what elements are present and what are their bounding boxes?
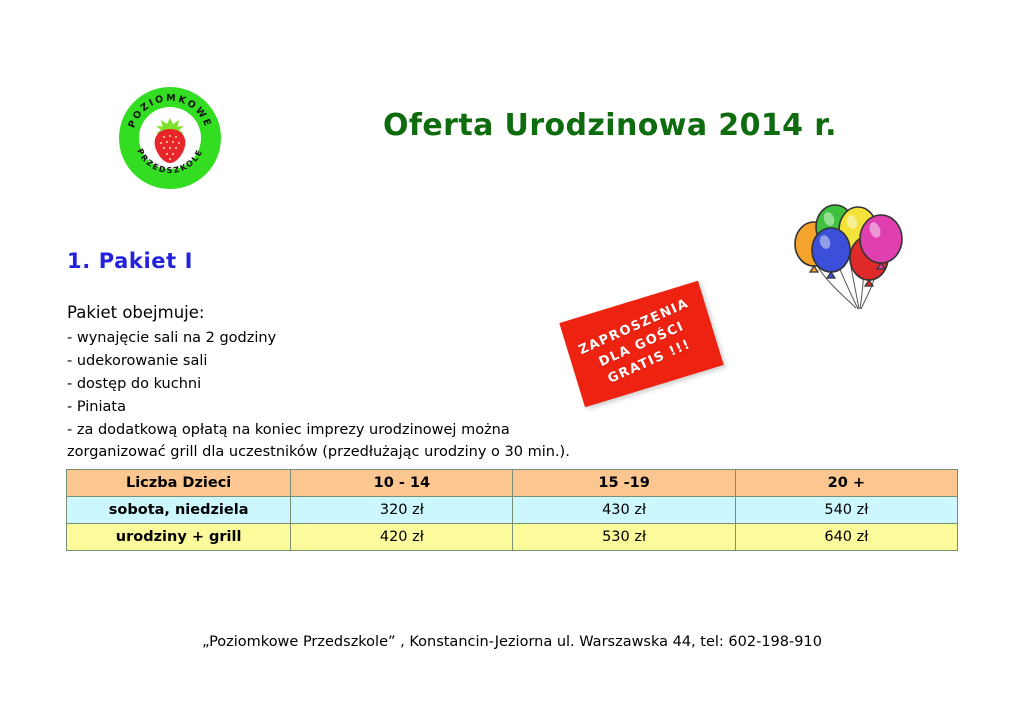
page-title: Oferta Urodzinowa 2014 r. (300, 108, 920, 143)
balloon-magenta (860, 215, 902, 263)
package-bullet-5: - za dodatkową opłatą na koniec imprezy … (67, 419, 587, 463)
table-header-cell-1: 10 - 14 (291, 470, 513, 497)
table-header-cell-3: 20 + (735, 470, 957, 497)
package-intro-label: Pakiet obejmuje: (67, 300, 587, 325)
school-logo: POZIOMKOWE PRZEDSZKOLE (117, 85, 223, 191)
balloons-icon (786, 192, 914, 314)
price-table: Liczba Dzieci 10 - 14 15 -19 20 + sobota… (66, 469, 958, 551)
package-details: Pakiet obejmuje: - wynajęcie sali na 2 g… (67, 300, 587, 463)
package-bullet-2: - udekorowanie sali (67, 350, 587, 373)
table-cell-r1c3: 640 zł (735, 524, 957, 551)
table-header-row: Liczba Dzieci 10 - 14 15 -19 20 + (67, 470, 958, 497)
table-cell-r0c1: 320 zł (291, 497, 513, 524)
package-bullet-4: - Piniata (67, 396, 587, 419)
table-header-cell-0: Liczba Dzieci (67, 470, 291, 497)
table-row: urodziny + grill 420 zł 530 zł 640 zł (67, 524, 958, 551)
table-cell-r1c2: 530 zł (513, 524, 735, 551)
table-cell-r0c3: 540 zł (735, 497, 957, 524)
table-cell-r1c1: 420 zł (291, 524, 513, 551)
package-bullet-1: - wynajęcie sali na 2 godziny (67, 327, 587, 350)
table-header-cell-2: 15 -19 (513, 470, 735, 497)
table-row: sobota, niedziela 320 zł 430 zł 540 zł (67, 497, 958, 524)
table-row-label-0: sobota, niedziela (67, 497, 291, 524)
balloon-blue (812, 228, 850, 272)
footer-contact-note: „Poziomkowe Przedszkole” , Konstancin-Je… (0, 634, 1024, 650)
table-row-label-1: urodziny + grill (67, 524, 291, 551)
package-bullet-3: - dostęp do kuchni (67, 373, 587, 396)
section-heading-pakiet-1: 1. Pakiet I (67, 249, 193, 273)
table-cell-r0c2: 430 zł (513, 497, 735, 524)
